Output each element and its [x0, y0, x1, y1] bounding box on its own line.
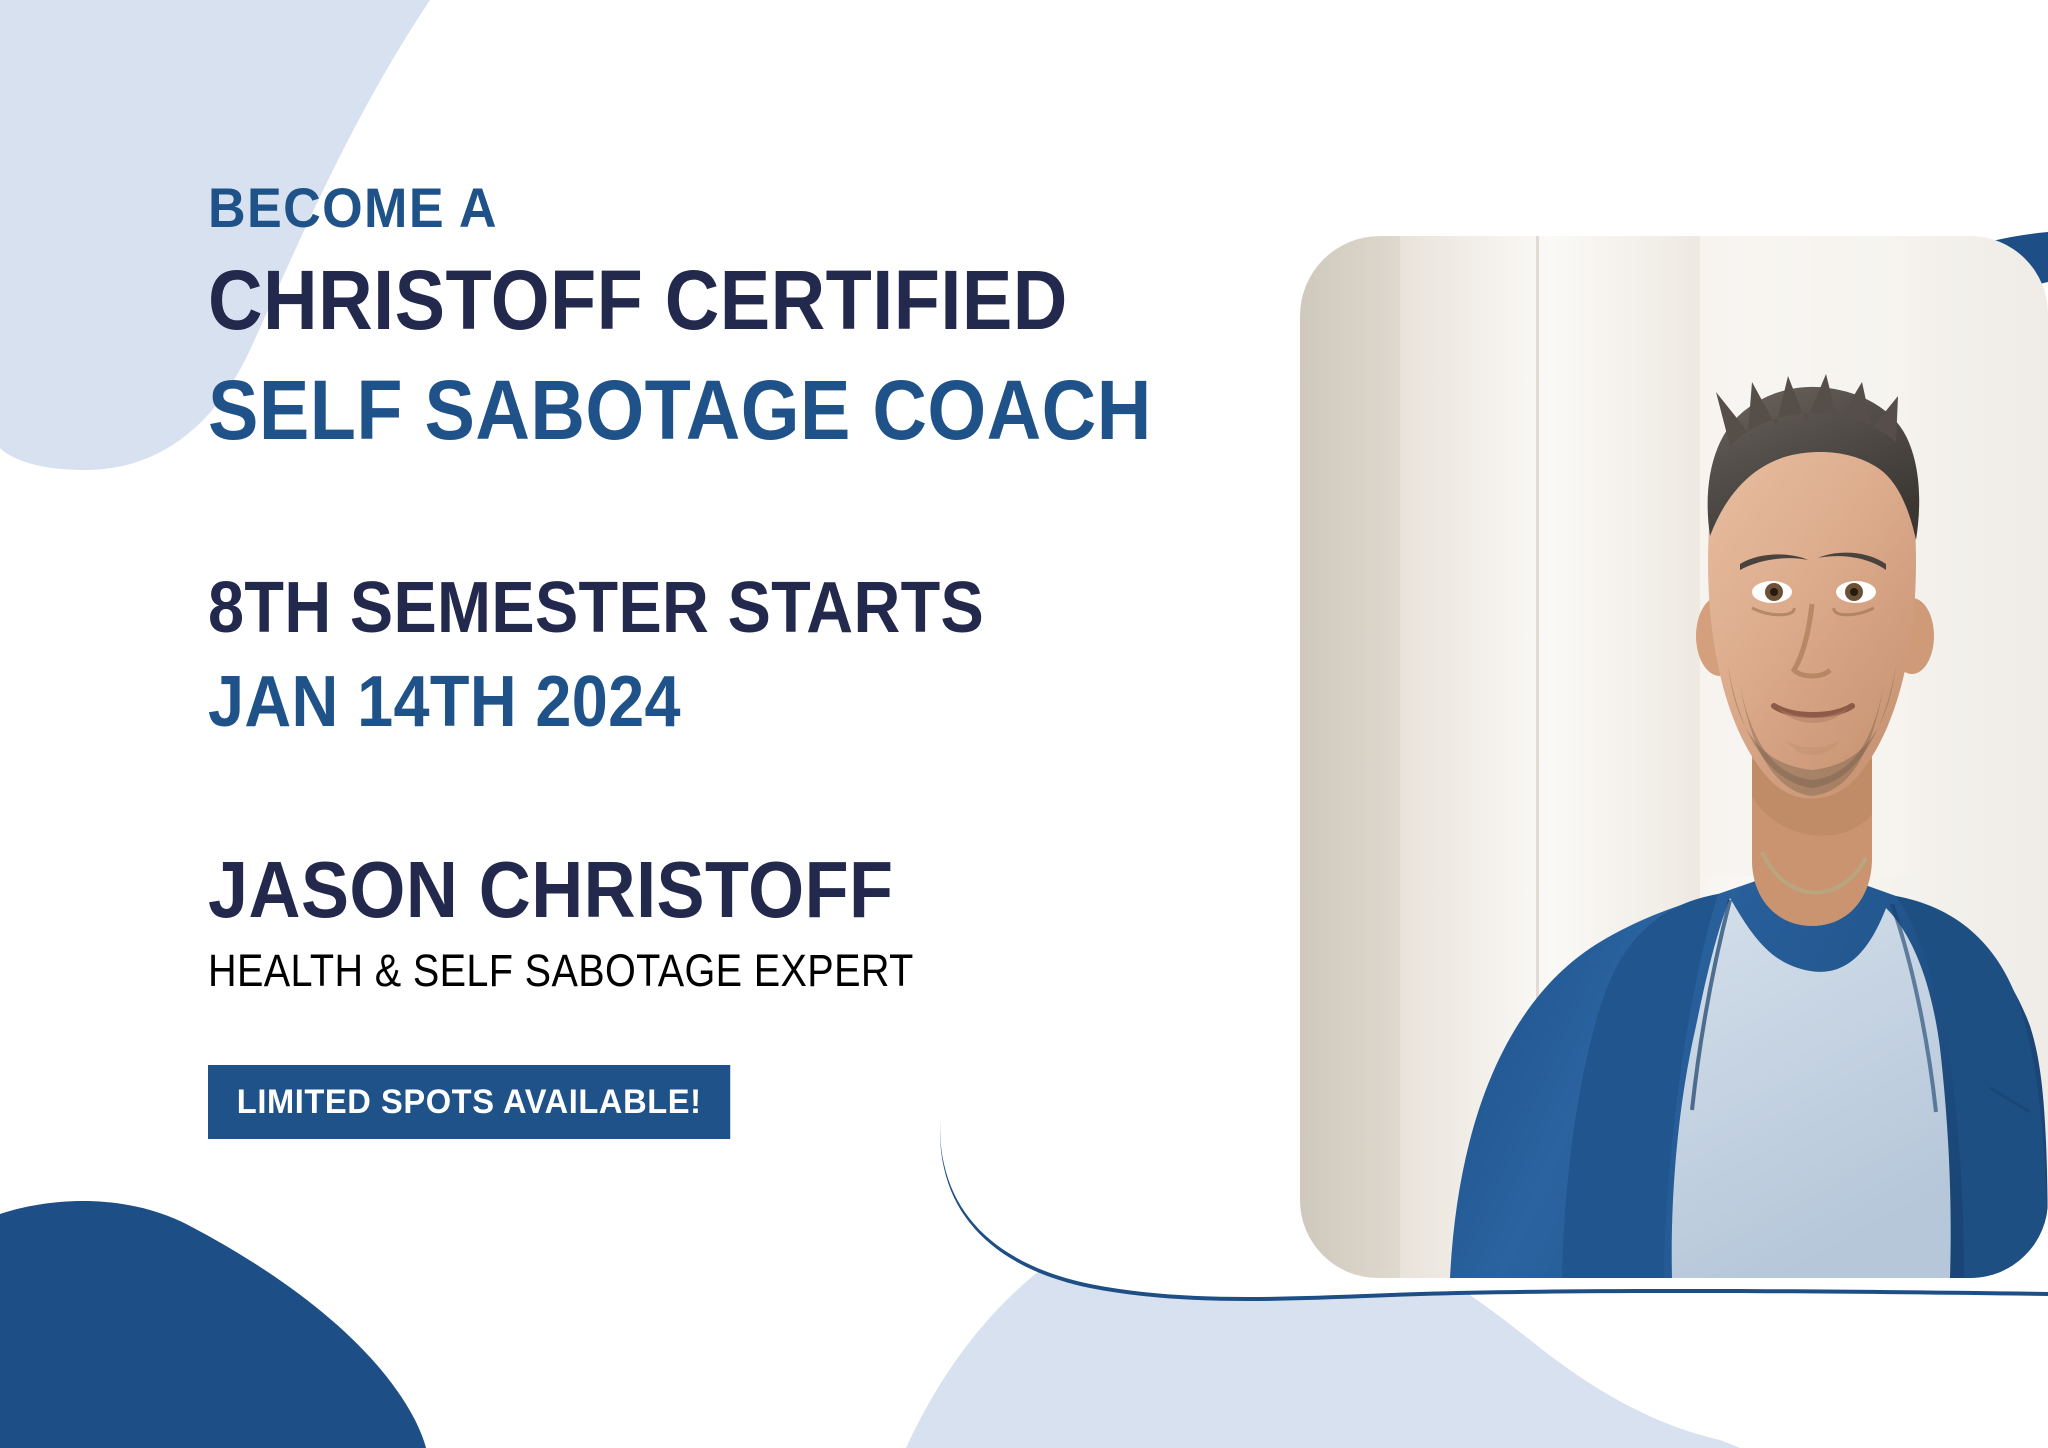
- presenter-name: JASON CHRISTOFF: [208, 850, 1162, 930]
- eyebrow-text: BECOME A: [208, 180, 1194, 236]
- semester-block: 8TH SEMESTER STARTS JAN 14TH 2024: [208, 572, 1268, 738]
- headline-line-2: SELF SABOTAGE COACH: [208, 368, 1162, 452]
- headline-text-column: BECOME A CHRISTOFF CERTIFIED SELF SABOTA…: [208, 180, 1268, 1139]
- portrait-illustration: [1300, 236, 2048, 1278]
- presenter-role: HEALTH & SELF SABOTAGE EXPERT: [208, 948, 1141, 993]
- headline-line-1: CHRISTOFF CERTIFIED: [208, 258, 1162, 342]
- semester-start-date: JAN 14TH 2024: [208, 666, 1162, 738]
- promotional-poster: BECOME A CHRISTOFF CERTIFIED SELF SABOTA…: [0, 0, 2048, 1448]
- presenter-block: JASON CHRISTOFF HEALTH & SELF SABOTAGE E…: [208, 850, 1268, 993]
- bottom-left-blob-shape: [0, 1201, 426, 1448]
- limited-spots-badge[interactable]: LIMITED SPOTS AVAILABLE!: [208, 1065, 730, 1139]
- presenter-portrait: [1300, 236, 2048, 1278]
- semester-line-1: 8TH SEMESTER STARTS: [208, 572, 1162, 644]
